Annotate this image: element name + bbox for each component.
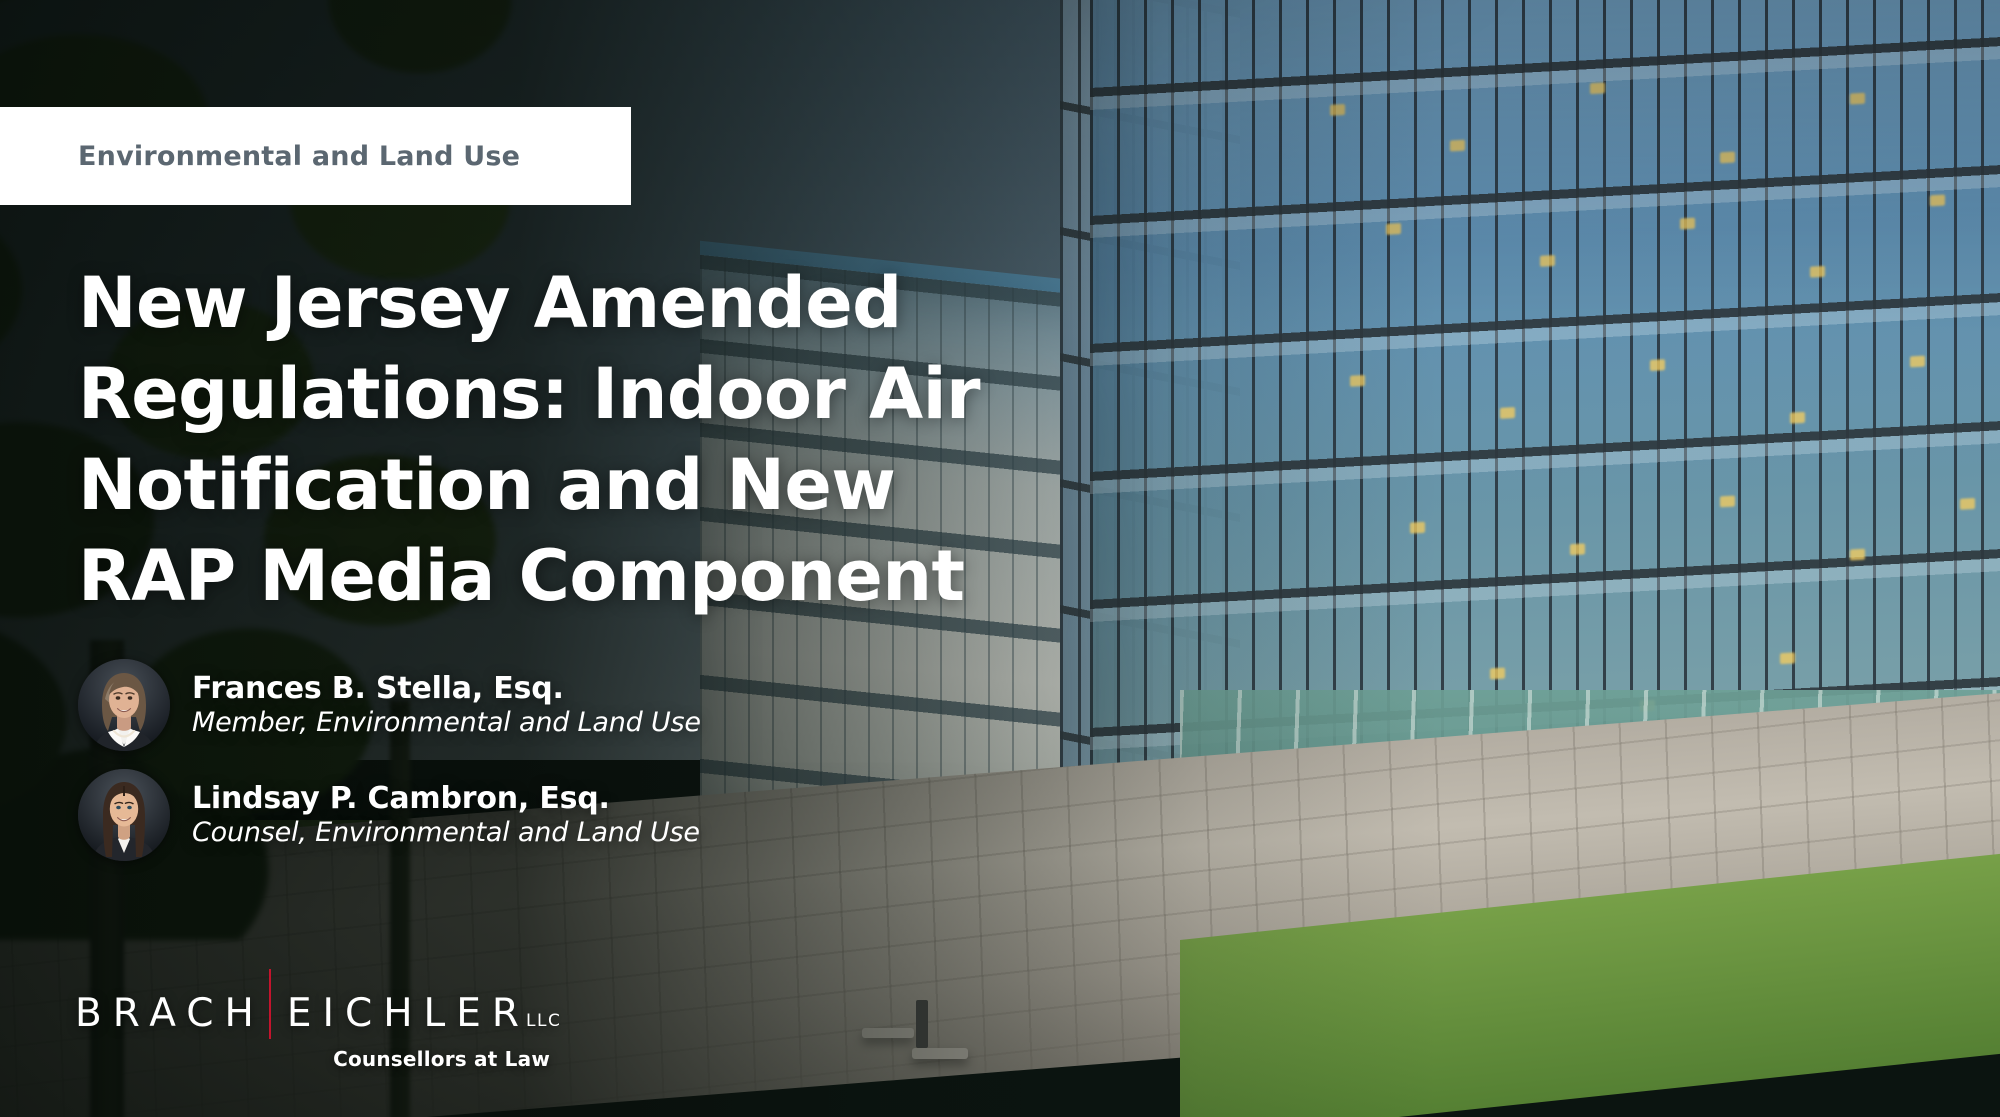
avatar xyxy=(78,659,170,751)
logo-word-eichler: EICHLER xyxy=(287,993,530,1035)
logo-tagline: Counsellors at Law xyxy=(75,1047,550,1071)
attorney-text: Frances B. Stella, Esq. Member, Environm… xyxy=(192,671,701,739)
firm-logo[interactable]: BRACH EICHLER LLC Counsellors at Law xyxy=(75,965,561,1071)
page-title: New Jersey Amended Regulations: Indoor A… xyxy=(78,258,1058,622)
headshot-lindsay-cambron-icon xyxy=(78,769,170,861)
logo-suffix-llc: LLC xyxy=(526,1011,561,1035)
practice-area-band: Environmental and Land Use xyxy=(0,107,631,205)
firm-logo-wordmark: BRACH EICHLER LLC xyxy=(75,965,561,1035)
attorney-text: Lindsay P. Cambron, Esq. Counsel, Enviro… xyxy=(192,781,700,849)
practice-area-label: Environmental and Land Use xyxy=(78,141,520,172)
logo-divider-rule xyxy=(269,969,271,1039)
attorney-role: Member, Environmental and Land Use xyxy=(192,707,701,739)
promo-card: Environmental and Land Use New Jersey Am… xyxy=(0,0,2000,1117)
attorney-entry: Frances B. Stella, Esq. Member, Environm… xyxy=(78,650,701,760)
attorney-role: Counsel, Environmental and Land Use xyxy=(192,817,700,849)
attorney-entry: Lindsay P. Cambron, Esq. Counsel, Enviro… xyxy=(78,760,701,870)
avatar xyxy=(78,769,170,861)
content-layer: Environmental and Land Use New Jersey Am… xyxy=(0,0,2000,1117)
attorney-name: Lindsay P. Cambron, Esq. xyxy=(192,781,700,817)
headshot-frances-stella-icon xyxy=(78,659,170,751)
attorney-name: Frances B. Stella, Esq. xyxy=(192,671,701,707)
attorney-list: Frances B. Stella, Esq. Member, Environm… xyxy=(78,650,701,870)
logo-word-brach: BRACH xyxy=(75,993,265,1035)
